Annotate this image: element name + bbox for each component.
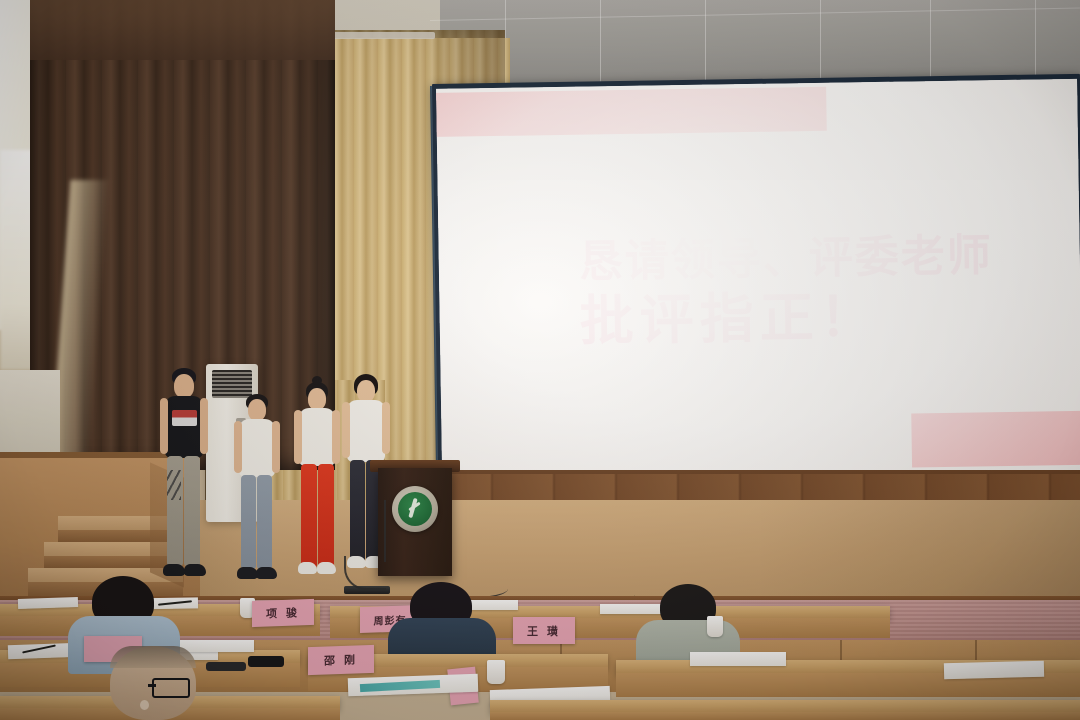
desk-row-1-right-front xyxy=(490,712,1080,720)
presenter-2-leg-right xyxy=(257,475,272,569)
slide-text-block: 恳请领导、评委老师 批评指正！ xyxy=(578,229,1080,355)
presenter-1-head xyxy=(174,374,194,398)
paper-cup xyxy=(487,660,505,684)
presenter-4-arm-left xyxy=(342,402,350,458)
presenter-2-leg-left xyxy=(241,475,256,569)
dark-curtain-header xyxy=(30,0,335,60)
school-crest-icon xyxy=(398,492,432,526)
attendee-2-hair xyxy=(110,646,196,668)
presenter-4-head xyxy=(357,380,375,402)
presenter-3-arm-right xyxy=(332,410,340,464)
mobile-phone xyxy=(248,656,284,667)
presenter-1-shoe-left xyxy=(163,564,185,576)
presenter-4-leg-left xyxy=(350,460,365,562)
paper-sheet xyxy=(690,652,786,666)
ceiling-seam xyxy=(600,0,601,92)
paper-cup xyxy=(707,616,723,637)
air-conditioner-grille-icon xyxy=(212,370,252,398)
presenter-3-shoe-left xyxy=(298,562,317,574)
presenter-2-shoe-left xyxy=(237,567,258,579)
presenter-2-shoe-right xyxy=(256,567,277,579)
left-wall-upper xyxy=(0,370,60,460)
presenter-2-head xyxy=(248,399,266,421)
presenter-1-shirt-graphic xyxy=(172,410,197,426)
eyeglasses-temple xyxy=(148,684,156,687)
slide-accent-bar-top xyxy=(436,87,827,137)
paper-sheet xyxy=(18,597,78,609)
projection-screen: 恳请领导、评委老师 批评指正！ xyxy=(432,74,1080,486)
attendee-2-ear xyxy=(140,700,149,710)
screen-surface: 恳请领导、评委老师 批评指正！ xyxy=(436,79,1080,481)
slide-line-2: 批评指正！ xyxy=(579,283,1080,355)
namecard-4: 邵 刚 xyxy=(308,645,374,675)
presenter-4-shirt xyxy=(347,400,385,462)
presenter-1-shoe-right xyxy=(184,564,206,576)
presenter-2-arm-left xyxy=(234,421,242,473)
eyeglasses-icon xyxy=(152,678,190,698)
presenter-3-arm-left xyxy=(294,410,302,464)
podium-mic-cable xyxy=(384,500,394,562)
presenter-1-arm-left xyxy=(160,398,168,454)
paper-sheet xyxy=(944,661,1044,680)
slide-accent-bar-bottom xyxy=(911,410,1080,468)
presenter-4-arm-right xyxy=(382,402,390,454)
presenter-3-hair-bun xyxy=(312,376,322,385)
presenter-3-shoe-right xyxy=(317,562,336,574)
presenter-3-leg-left xyxy=(301,464,317,568)
presenter-2-arm-right xyxy=(272,421,280,473)
presenter-3-head xyxy=(308,388,326,410)
remote-control xyxy=(206,662,246,671)
presenter-1-shirt xyxy=(165,396,203,458)
presenter-1-leg-right xyxy=(184,456,200,566)
photo-scene: 恳请领导、评委老师 批评指正！ xyxy=(0,0,1080,720)
namecard-3: 王 璜 xyxy=(513,617,575,644)
presenter-1-arm-right xyxy=(200,398,208,454)
namecard-1: 项 骏 xyxy=(252,599,314,627)
presenter-3-leg-right xyxy=(318,464,334,568)
slide-line-1: 恳请领导、评委老师 xyxy=(578,229,1080,289)
presenter-3-shirt xyxy=(299,408,335,466)
presenter-1-pant-stripes xyxy=(167,470,181,500)
presenter-2-shirt xyxy=(239,419,275,477)
